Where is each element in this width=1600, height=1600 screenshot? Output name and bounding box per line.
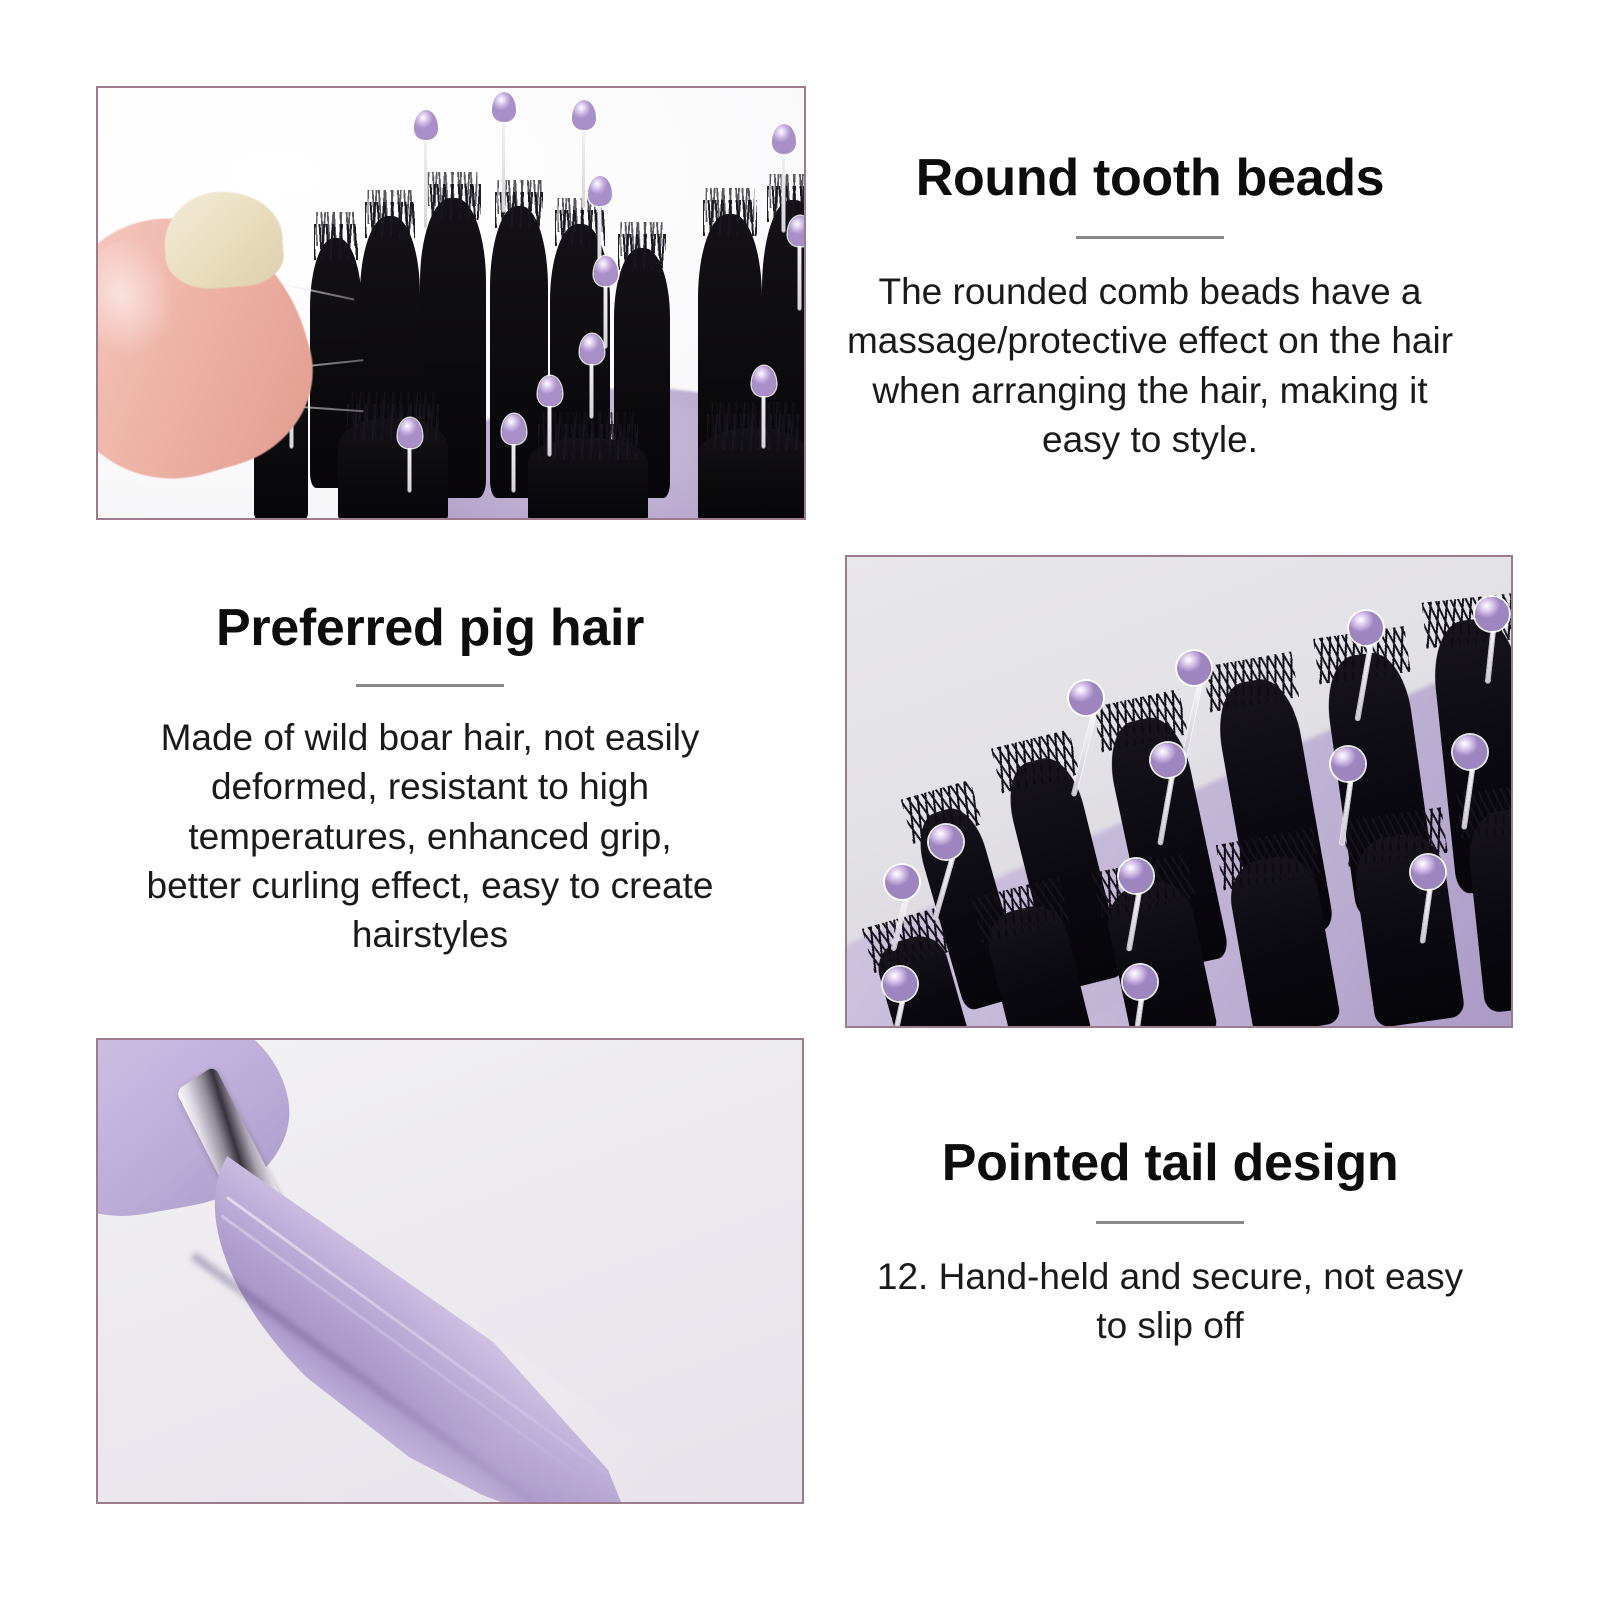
round-tooth-bead — [1151, 743, 1185, 777]
heading-divider — [1076, 236, 1224, 239]
bead-pin-stem — [590, 356, 593, 418]
round-tooth-bead — [594, 256, 618, 286]
feature-text-round-tooth-beads: Round tooth beads The rounded comb beads… — [840, 150, 1460, 464]
bead-pin-stem — [762, 388, 765, 448]
feature-text-pointed-tail-design: Pointed tail design 12. Hand-held and se… — [860, 1135, 1480, 1351]
bead-pin-stem — [512, 436, 515, 492]
bead-pin-stem — [424, 132, 427, 228]
round-tooth-bead — [580, 334, 604, 364]
bristle-tuft — [528, 438, 648, 520]
feature-heading: Pointed tail design — [860, 1135, 1480, 1191]
round-tooth-bead — [1475, 597, 1509, 631]
feature-body: Made of wild boar hair, not easily defor… — [140, 713, 720, 959]
round-tooth-bead — [1331, 747, 1365, 781]
round-tooth-bead — [1119, 859, 1153, 893]
heading-divider — [1096, 1221, 1244, 1224]
round-tooth-bead — [772, 124, 796, 154]
round-tooth-bead — [929, 825, 963, 859]
round-tooth-bead — [883, 967, 917, 1001]
round-tooth-bead — [1177, 651, 1211, 685]
bead-pin-stem — [604, 278, 607, 348]
round-tooth-bead — [788, 216, 806, 246]
round-tooth-bead — [538, 376, 562, 406]
round-tooth-bead — [572, 100, 596, 130]
round-tooth-bead — [1453, 735, 1487, 769]
bead-pin-stem — [782, 146, 785, 232]
photo-bristle-rows — [845, 555, 1513, 1028]
bristle-tuft — [698, 428, 806, 520]
bead-pin-stem — [582, 124, 585, 208]
heading-divider — [356, 684, 504, 687]
feature-body: The rounded comb beads have a massage/pr… — [840, 267, 1460, 464]
round-tooth-bead — [1123, 965, 1157, 999]
round-tooth-bead — [1069, 681, 1103, 715]
feature-body: 12. Hand-held and secure, not easy to sl… — [860, 1252, 1480, 1350]
photo-bristle-close — [96, 86, 806, 520]
bead-pin-stem — [798, 238, 801, 310]
round-tooth-bead — [588, 176, 612, 206]
round-tooth-bead — [492, 92, 516, 122]
photo-handle-tail — [96, 1038, 804, 1504]
round-tooth-bead — [885, 865, 919, 899]
round-tooth-bead — [502, 414, 526, 444]
feature-heading: Round tooth beads — [840, 150, 1460, 206]
bead-pin-stem — [548, 398, 551, 456]
round-tooth-bead — [752, 366, 776, 396]
bead-pin-stem — [502, 116, 505, 212]
feature-text-preferred-pig-hair: Preferred pig hair Made of wild boar hai… — [140, 600, 720, 959]
round-tooth-bead — [398, 418, 422, 448]
round-tooth-bead — [1411, 855, 1445, 889]
round-tooth-bead — [414, 110, 438, 140]
feature-heading: Preferred pig hair — [140, 600, 720, 656]
infographic-page: Round tooth beads The rounded comb beads… — [0, 0, 1600, 1600]
round-tooth-bead — [1349, 611, 1383, 645]
bristle-tuft — [338, 418, 448, 520]
